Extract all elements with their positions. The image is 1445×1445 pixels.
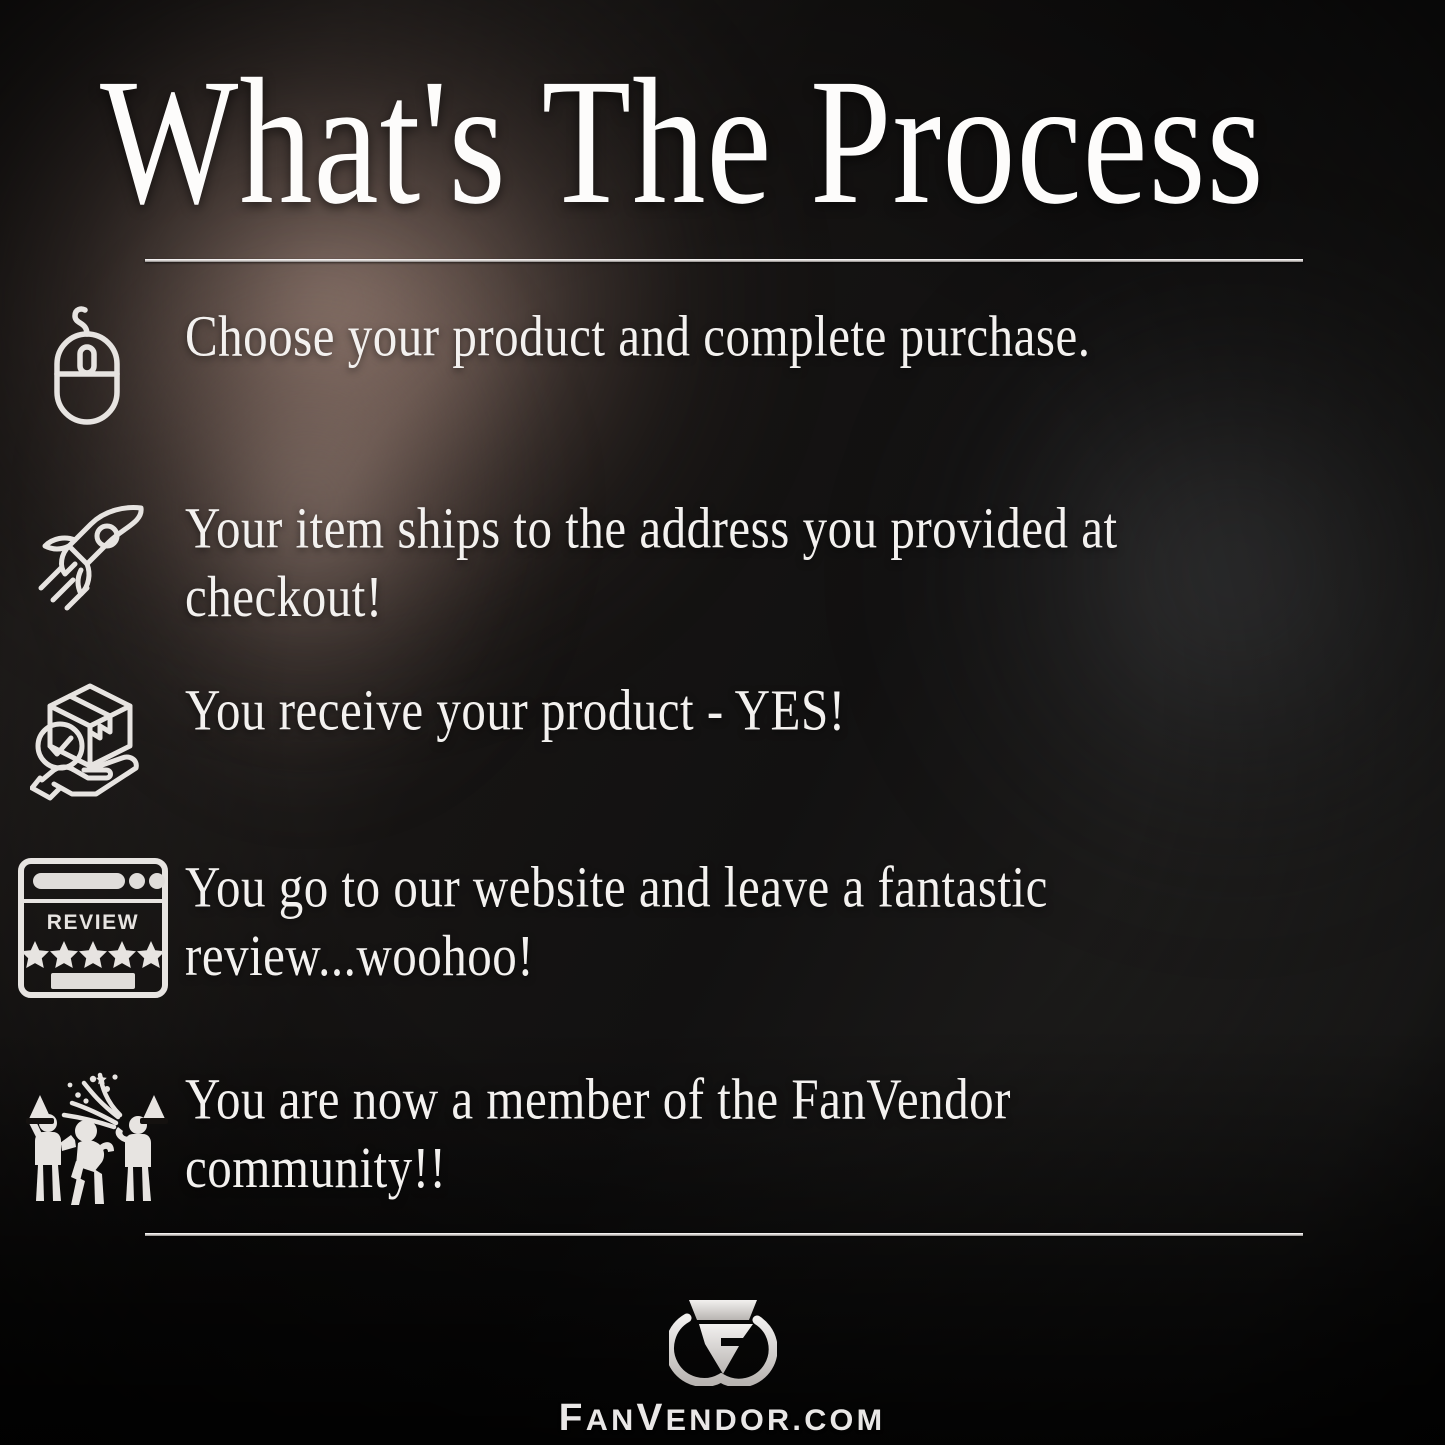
page-title: What's The Process <box>100 52 1357 233</box>
step-text: You receive your product - YES! <box>185 674 846 745</box>
top-divider <box>145 259 1303 262</box>
celebration-party-people-icon <box>0 1063 185 1209</box>
process-steps-list: Choose your product and complete purchas… <box>0 300 1445 1245</box>
step-text: You go to our website and leave a fantas… <box>185 851 1245 990</box>
brand-letter-f: F <box>559 1397 586 1439</box>
brand-letter-v: V <box>637 1397 666 1439</box>
list-item: You receive your product - YES! <box>0 674 1445 829</box>
hand-holding-package-check-icon <box>0 674 185 802</box>
fanvendor-shield-fv-logo <box>669 1290 777 1391</box>
step-text: You are now a member of the FanVendor co… <box>185 1063 1245 1202</box>
rocket-icon <box>0 492 185 618</box>
list-item: Your item ships to the address you provi… <box>0 492 1445 652</box>
brand-name: FanVendor.com <box>559 1397 886 1440</box>
footer-branding: FanVendor.com <box>0 1290 1445 1440</box>
brand-dotcom: .com <box>793 1404 886 1437</box>
step-text: Your item ships to the address you provi… <box>185 492 1245 631</box>
list-item: REVIEW You go to our website and leave a… <box>0 851 1445 1041</box>
computer-mouse-icon <box>0 300 185 428</box>
bottom-divider <box>145 1233 1303 1236</box>
list-item: You are now a member of the FanVendor co… <box>0 1063 1445 1223</box>
brand-an: an <box>586 1404 637 1437</box>
brand-endor: endor <box>666 1404 793 1437</box>
list-item: Choose your product and complete purchas… <box>0 300 1445 470</box>
review-icon-label: REVIEW <box>46 911 138 934</box>
process-infographic-poster: What's The Process Choose your product a… <box>0 0 1445 1445</box>
step-text: Choose your product and complete purchas… <box>185 300 1090 371</box>
browser-review-stars-icon: REVIEW <box>0 851 185 999</box>
poster-content: What's The Process Choose your product a… <box>0 0 1445 1445</box>
